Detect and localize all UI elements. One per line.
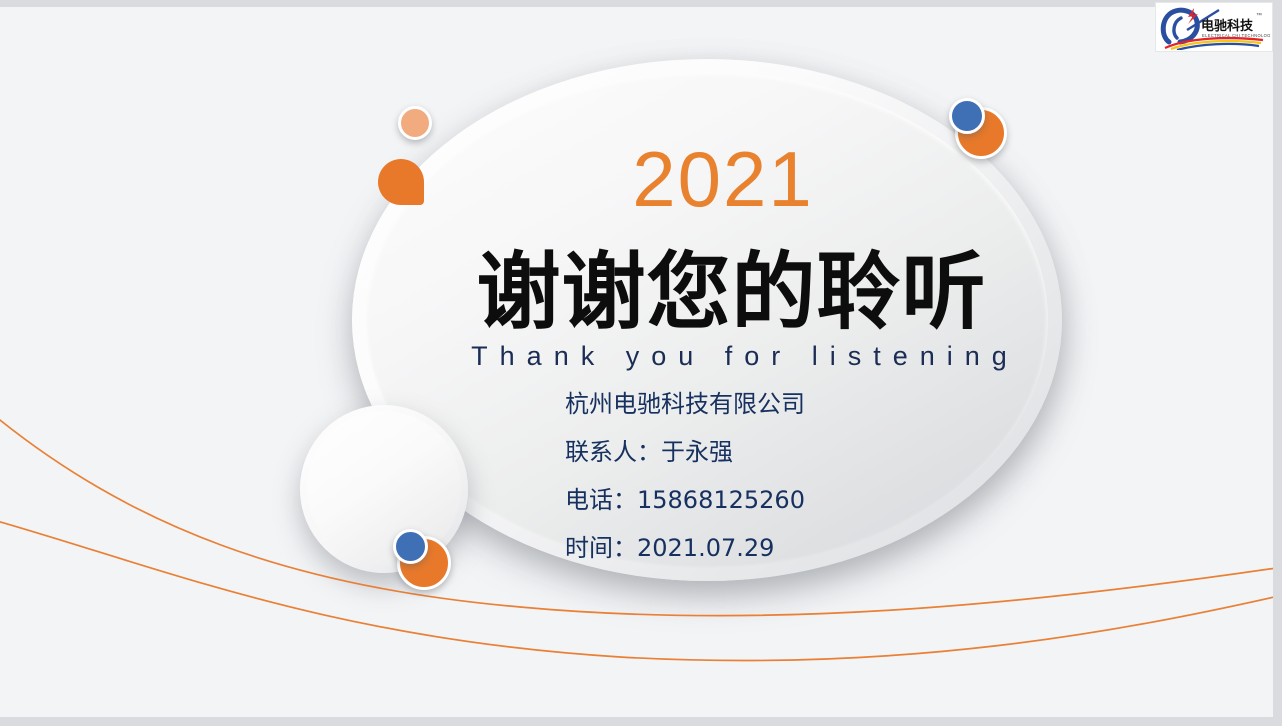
contact-phone: 电话：15868125260	[565, 488, 805, 512]
company-logo: 电驰科技 ™ ELECTRICAL CHI TECHNOLOGY	[1155, 2, 1273, 52]
year-label: 2021	[0, 140, 1273, 218]
logo-company-cn: 电驰科技	[1201, 18, 1254, 34]
contact-info-block: 杭州电驰科技有限公司 联系人：于永强 电话：15868125260 时间：202…	[565, 392, 805, 584]
logo-trademark: ™	[1256, 12, 1262, 19]
viewer-top-bar	[0, 0, 1282, 7]
blue-dot-bottom-left-icon	[393, 529, 428, 564]
peach-dot-icon	[398, 106, 432, 140]
viewer-bottom-bar	[0, 717, 1282, 726]
blue-dot-top-right-icon	[949, 98, 985, 134]
company-logo-mark: 电驰科技 ™ ELECTRICAL CHI TECHNOLOGY	[1157, 4, 1271, 50]
logo-monogram-inner-icon	[1174, 18, 1181, 38]
contact-person: 联系人：于永强	[565, 440, 805, 464]
slide-canvas: 2021 谢谢您的聆听 Thank you for listening 杭州电驰…	[0, 7, 1273, 717]
slide-viewer: 2021 谢谢您的聆听 Thank you for listening 杭州电驰…	[0, 0, 1282, 726]
page-title: 谢谢您的聆听	[0, 250, 1273, 334]
company-name: 杭州电驰科技有限公司	[565, 392, 805, 416]
subtitle-english: Thank you for listening	[0, 340, 1273, 372]
presentation-date: 时间：2021.07.29	[565, 536, 805, 560]
viewer-right-edge	[1273, 0, 1282, 726]
